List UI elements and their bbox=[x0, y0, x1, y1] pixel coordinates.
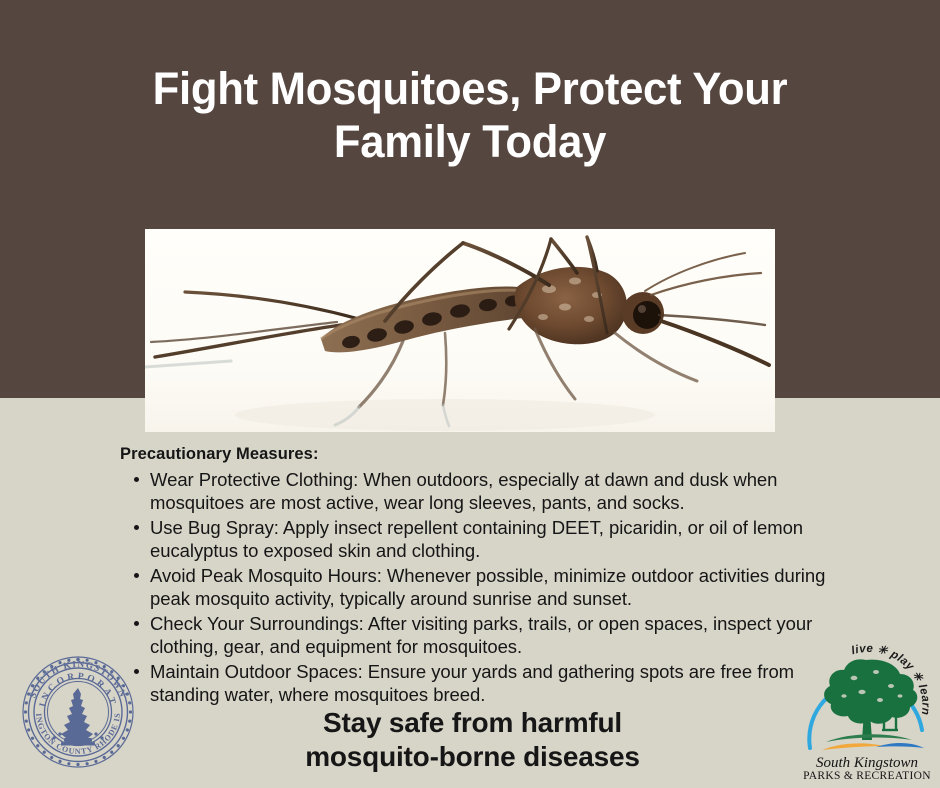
tagline-line-1: Stay safe from harmful bbox=[200, 706, 745, 740]
page-title-line-2: Family Today bbox=[82, 115, 858, 168]
mosquito-photo bbox=[145, 229, 775, 432]
tagline: Stay safe from harmful mosquito-borne di… bbox=[200, 706, 745, 773]
page-title-line-1: Fight Mosquitoes, Protect Your bbox=[82, 62, 858, 115]
blue-swoosh bbox=[876, 743, 924, 748]
list-item: Wear Protective Clothing: When outdoors,… bbox=[120, 468, 832, 515]
logo-wordmark: South Kingstown bbox=[816, 755, 918, 771]
orange-swoosh bbox=[822, 743, 884, 750]
list-item: Avoid Peak Mosquito Hours: Whenever poss… bbox=[120, 564, 832, 611]
tree-icon bbox=[824, 659, 917, 740]
logo-subtitle: PARKS & RECREATION bbox=[803, 770, 931, 782]
poster-canvas: Fight Mosquitoes, Protect Your Family To… bbox=[0, 0, 940, 788]
measures-heading: Precautionary Measures: bbox=[120, 444, 832, 465]
precautionary-measures-section: Precautionary Measures: Wear Protective … bbox=[120, 444, 832, 707]
list-item: Use Bug Spray: Apply insect repellent co… bbox=[120, 516, 832, 563]
page-title: Fight Mosquitoes, Protect Your Family To… bbox=[82, 62, 858, 168]
parks-recreation-logo: live ✳ play ✳ learn bbox=[796, 630, 938, 782]
town-seal-logo: SOUTH KINGSTOWN WASHINGTON COUNTY RHODE … bbox=[20, 642, 136, 782]
mosquito-photo-image bbox=[145, 229, 775, 432]
list-item: Check Your Surroundings: After visiting … bbox=[120, 612, 832, 659]
tagline-line-2: mosquito-borne diseases bbox=[200, 740, 745, 774]
measures-list: Wear Protective Clothing: When outdoors,… bbox=[120, 468, 832, 707]
list-item: Maintain Outdoor Spaces: Ensure your yar… bbox=[120, 660, 832, 707]
